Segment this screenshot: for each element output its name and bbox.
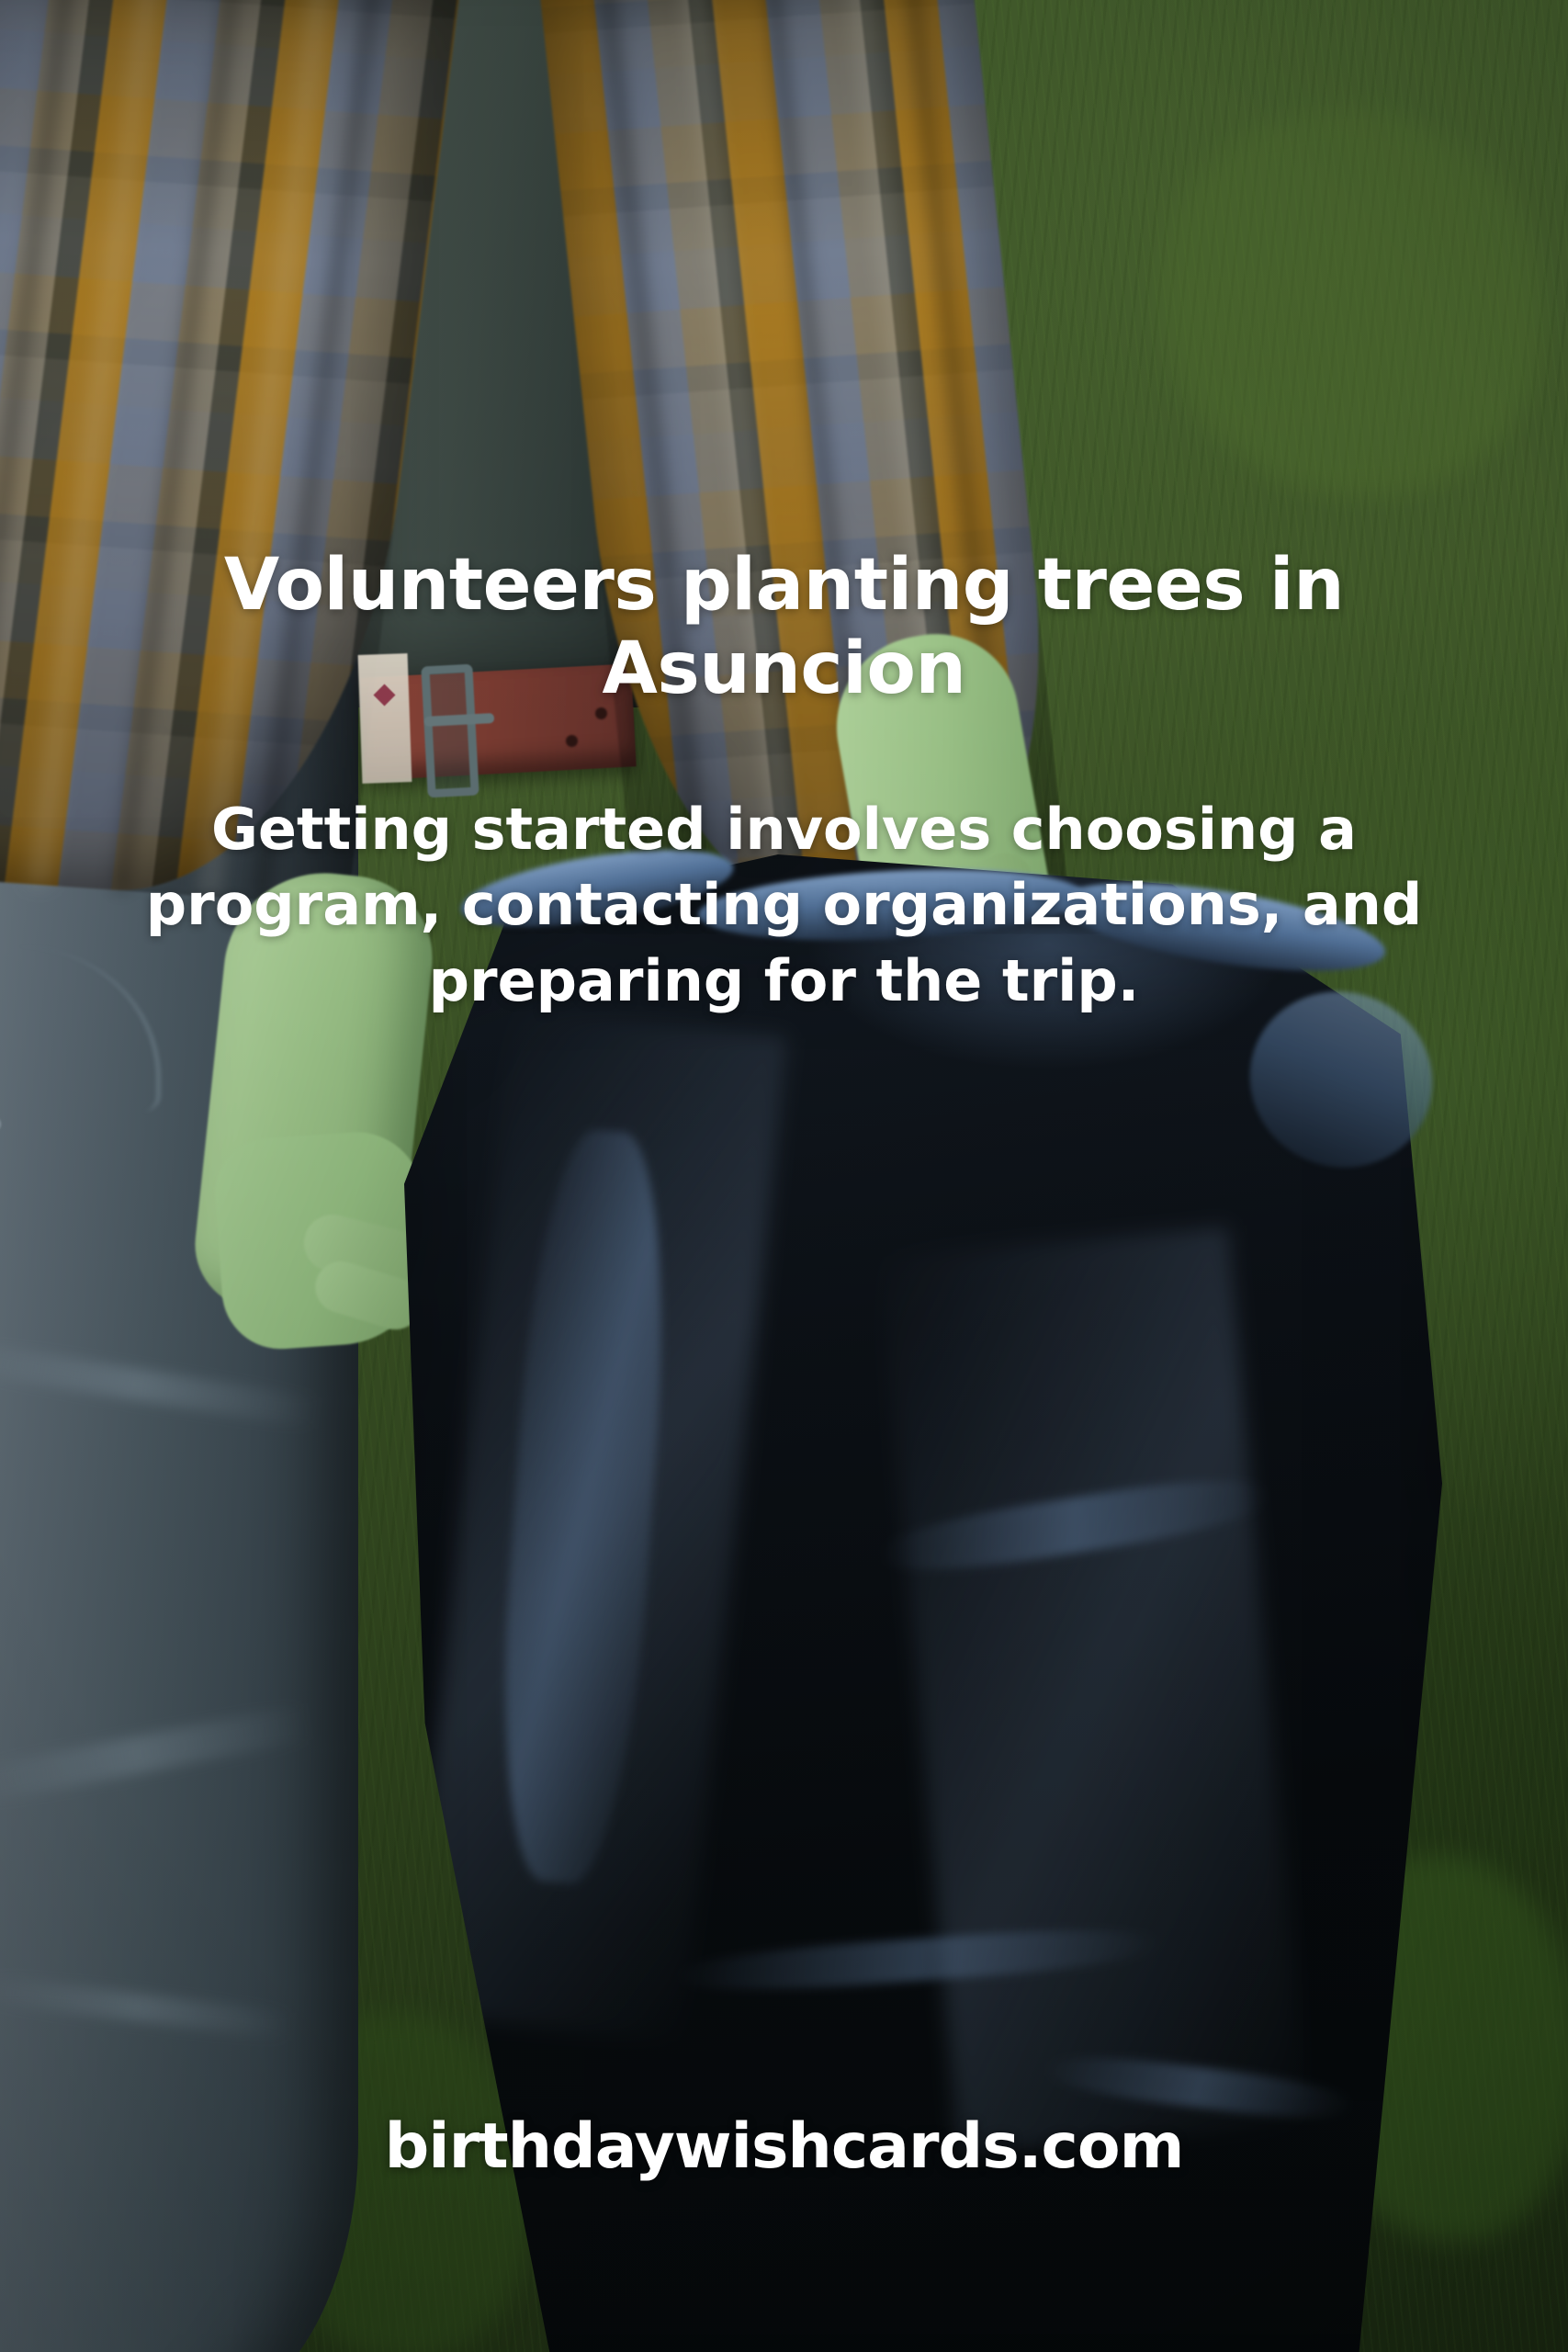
social-card: Volunteers planting trees in Asuncion Ge… xyxy=(0,0,1568,2352)
subtitle-text: Getting started involves choosing a prog… xyxy=(0,792,1568,1019)
page-title: Volunteers planting trees in Asuncion xyxy=(0,544,1568,712)
website-url: birthdaywishcards.com xyxy=(0,2116,1568,2178)
text-overlay: Volunteers planting trees in Asuncion Ge… xyxy=(0,0,1568,2352)
